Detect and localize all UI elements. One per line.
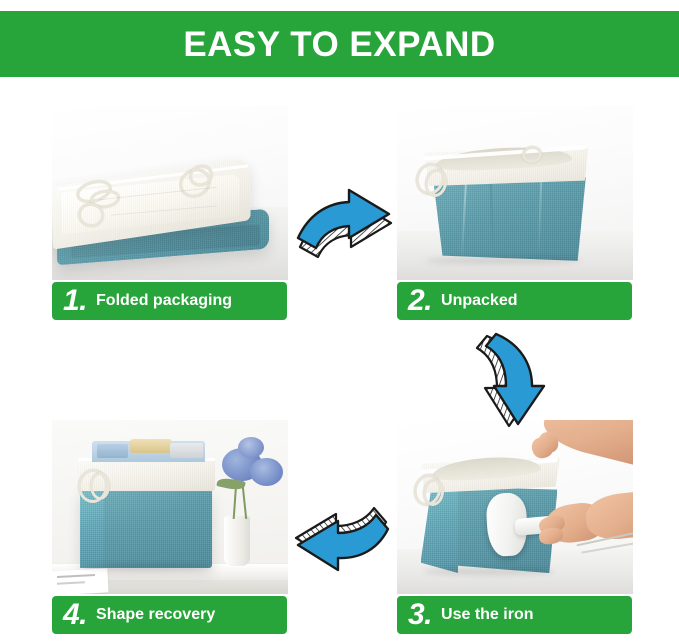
step-3-number: 3. [408, 600, 432, 630]
step-3-label-bar: 3. Use the iron [397, 596, 632, 634]
step-1-label: Folded packaging [96, 293, 232, 309]
step-2-label-bar: 2. Unpacked [397, 282, 632, 320]
step-3-photo [397, 420, 633, 594]
step-1-number: 1. [63, 286, 87, 316]
step-1-photo [52, 106, 288, 280]
arrow-down-icon [474, 330, 560, 428]
step-3-label: Use the iron [441, 607, 533, 623]
step-4-label: Shape recovery [96, 607, 215, 623]
step-4-number: 4. [63, 600, 87, 630]
header-banner: EASY TO EXPAND [0, 11, 679, 77]
step-2-label: Unpacked [441, 293, 517, 309]
page-title: EASY TO EXPAND [183, 27, 495, 62]
arrow-step2-to-step3 [474, 330, 560, 428]
use-the-iron-image [397, 420, 633, 594]
arrow-step3-to-step4 [286, 505, 394, 589]
arrow-right-icon [294, 176, 394, 260]
shape-recovery-image [52, 420, 288, 594]
step-2-number: 2. [408, 286, 432, 316]
unpacked-image [397, 106, 633, 280]
folded-packaging-image [52, 106, 288, 280]
arrow-step1-to-step2 [294, 176, 394, 260]
arrow-left-icon [286, 505, 394, 589]
step-1-label-bar: 1. Folded packaging [52, 282, 287, 320]
step-2-photo [397, 106, 633, 280]
step-4-label-bar: 4. Shape recovery [52, 596, 287, 634]
step-4-photo [52, 420, 288, 594]
